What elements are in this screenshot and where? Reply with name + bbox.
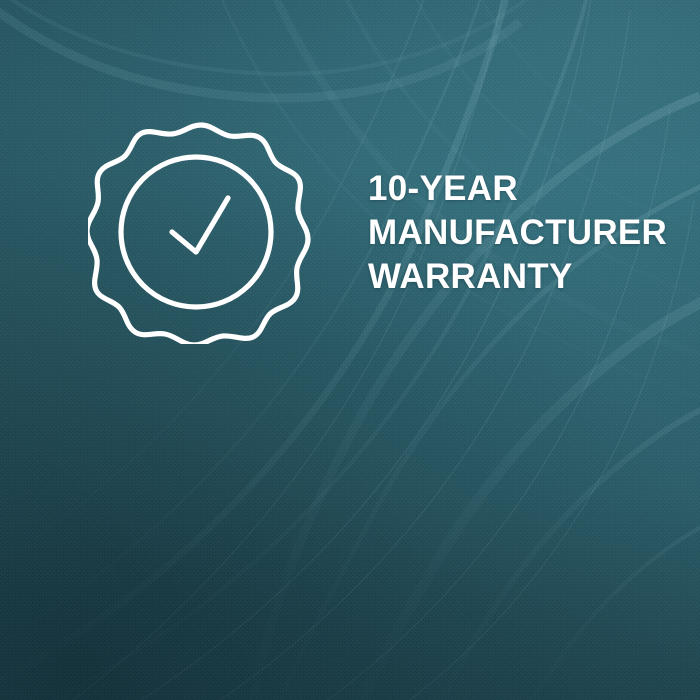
promo-banner: 10-YEAR MANUFACTURER WARRANTY [0, 0, 700, 700]
badge-item-assembled-usa: ASSEMBLED IN USA [0, 350, 700, 700]
warranty-headline: 10-YEAR MANUFACTURER WARRANTY [368, 167, 667, 299]
seal-check-badge-icon [88, 118, 314, 344]
badge-list: 10-YEAR MANUFACTURER WARRANTY [0, 0, 700, 700]
badge-item-warranty: 10-YEAR MANUFACTURER WARRANTY [0, 0, 700, 350]
